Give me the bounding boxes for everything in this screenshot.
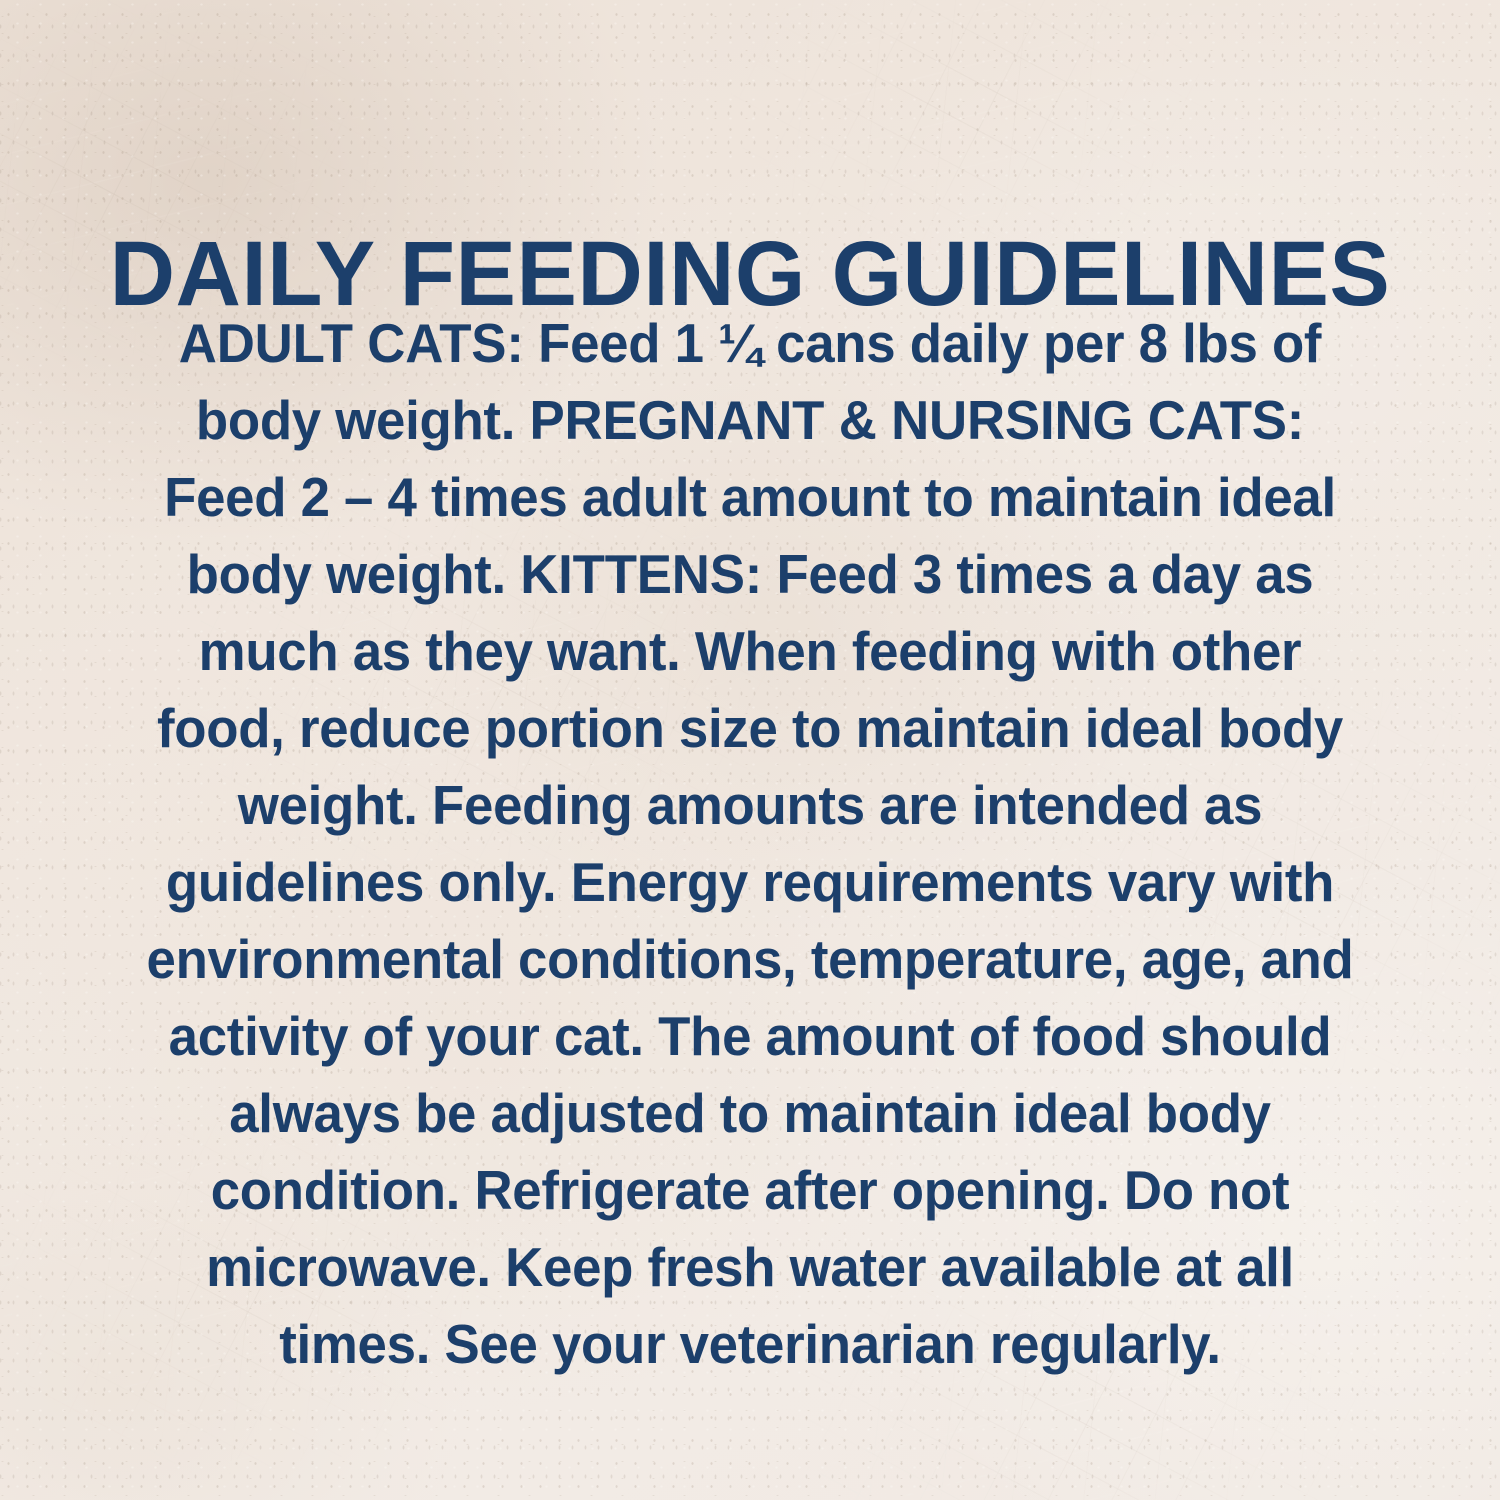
kittens-and-general-instructions: : Feed 3 times a day as much as they wan…	[147, 543, 1354, 1375]
adult-cats-label: ADULT CATS:	[179, 312, 524, 374]
kittens-label: KITTENS	[520, 543, 745, 605]
feeding-guidelines-panel: DAILY FEEDING GUIDELINES ADULT CATS: Fee…	[0, 0, 1500, 1500]
pregnant-nursing-cats-label: PREGNANT & NURSING CATS	[529, 389, 1286, 451]
feeding-guidelines-text: ADULT CATS: Feed 1 ¼ cans daily per 8 lb…	[134, 305, 1367, 1383]
